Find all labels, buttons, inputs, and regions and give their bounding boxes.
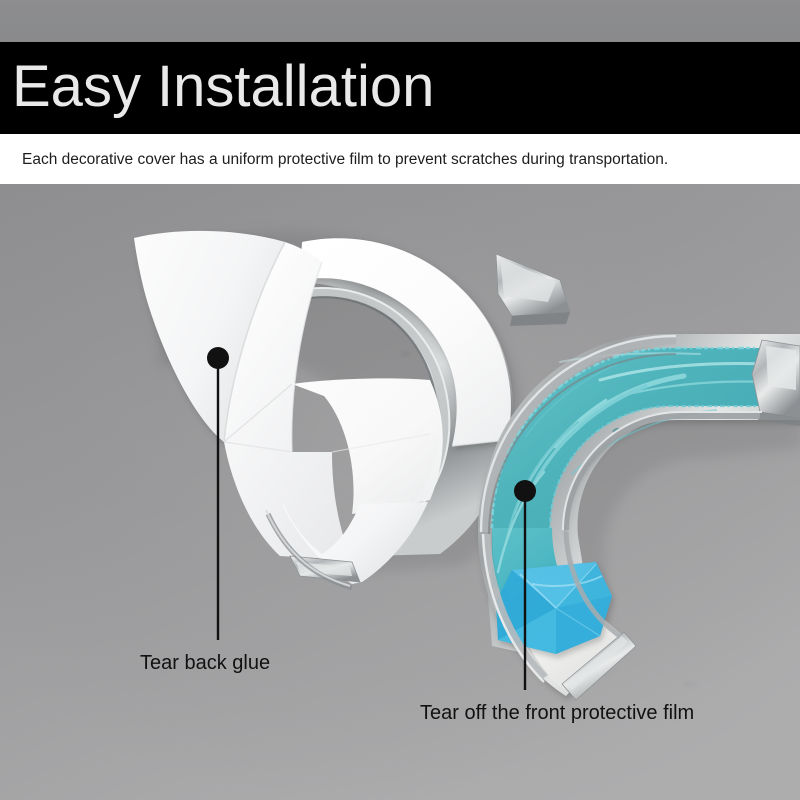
top-gray-strip — [0, 0, 800, 42]
callout-dot-left — [207, 347, 229, 369]
page-title: Easy Installation — [12, 48, 434, 126]
callout-dot-right — [514, 480, 536, 502]
callout-label-left: Tear back glue — [140, 652, 270, 675]
product-infographic: Easy Installation Each decorative cover … — [0, 0, 800, 800]
callout-label-right: Tear off the front protective film — [420, 702, 694, 725]
subtitle-text: Each decorative cover has a uniform prot… — [22, 149, 668, 171]
